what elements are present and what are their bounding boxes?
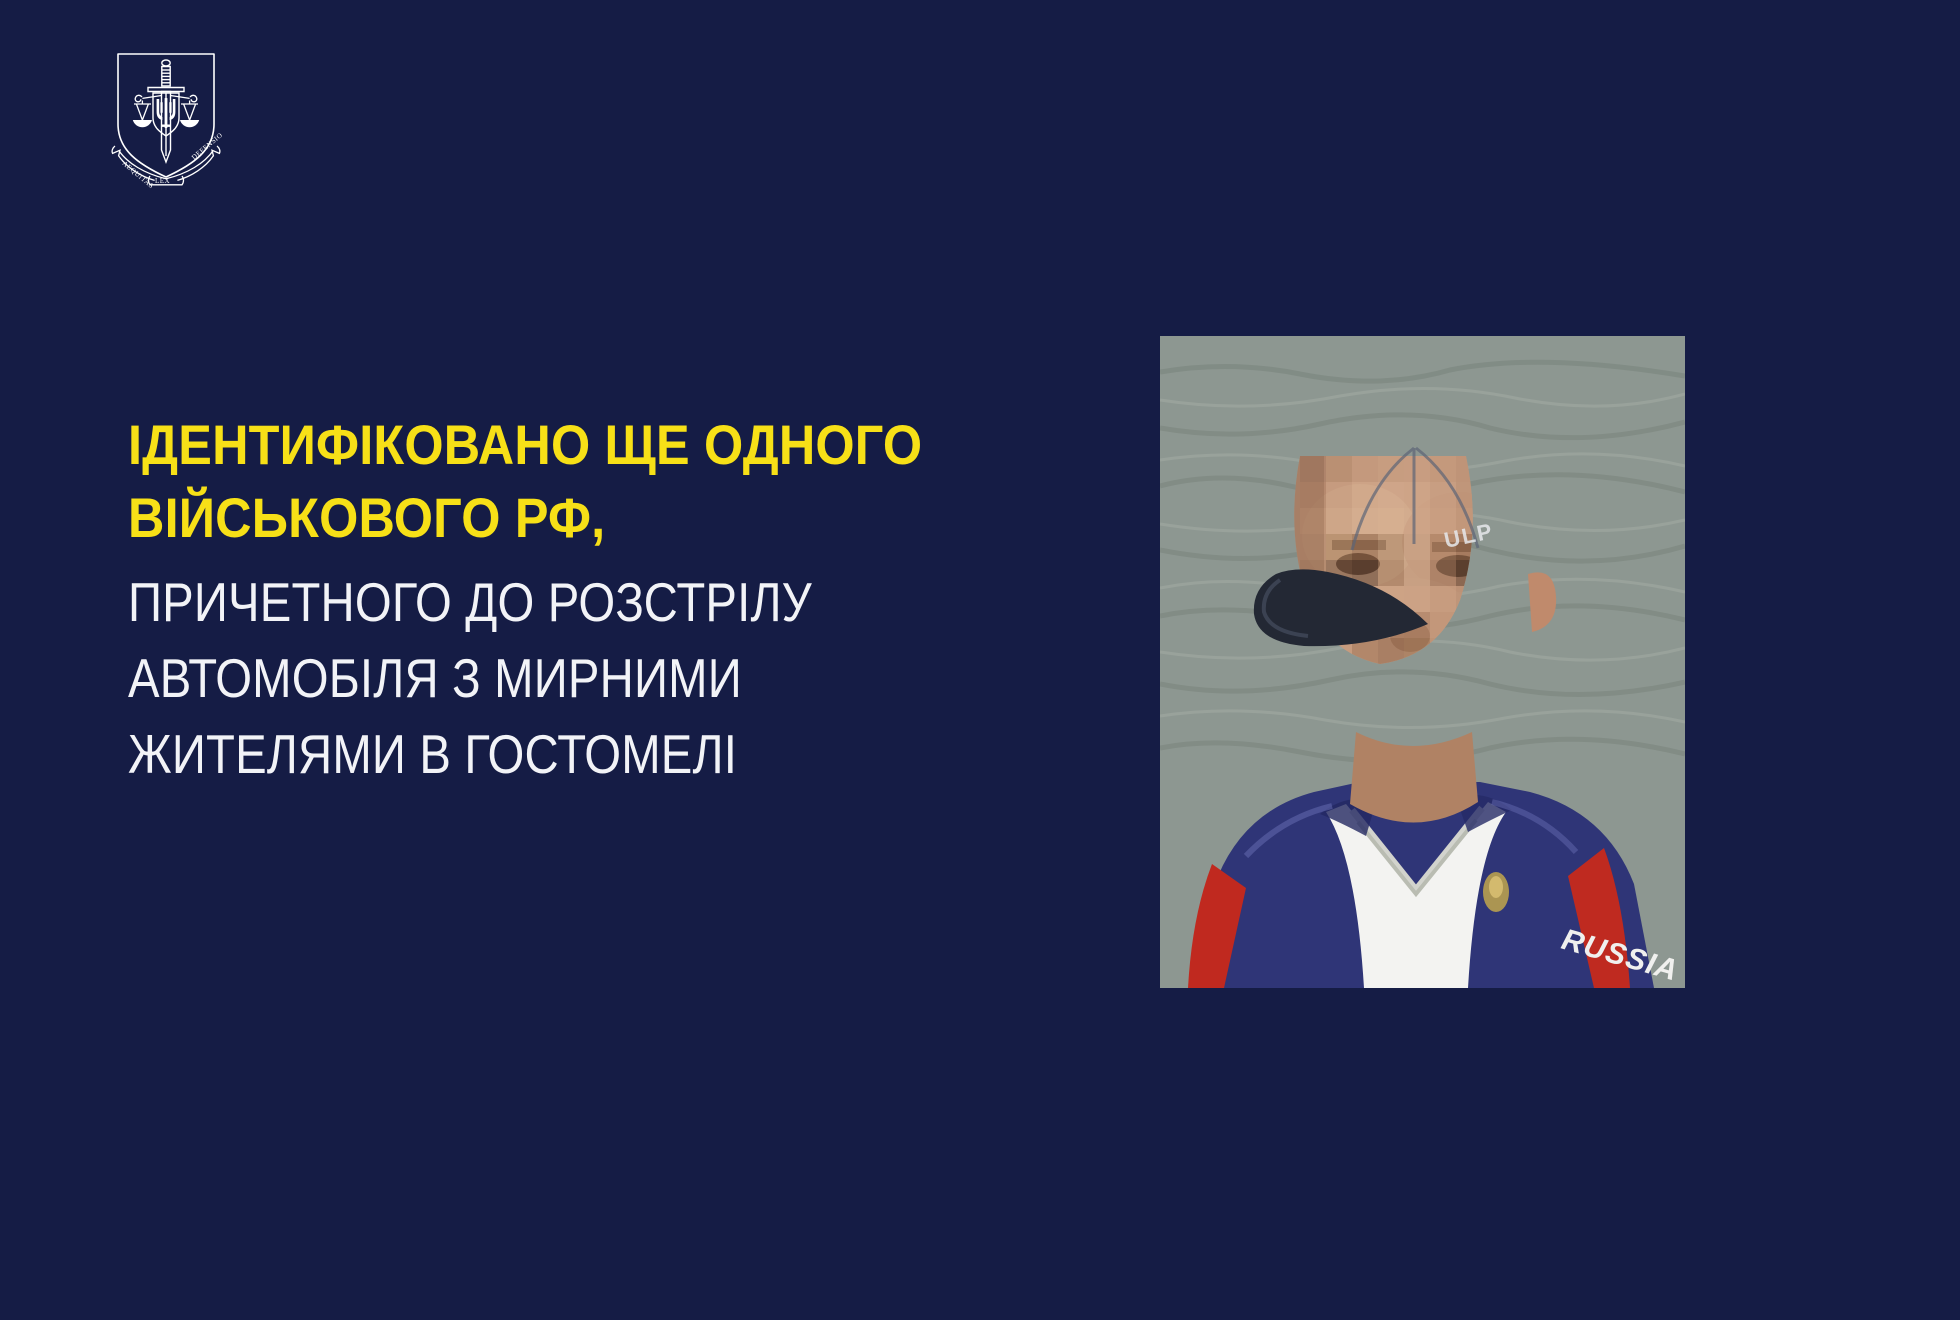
headline-subtext: ПРИЧЕТНОГО ДО РОЗСТРІЛУ АВТОМОБІЛЯ З МИР…	[128, 564, 1028, 792]
headline-accent-line-1: ІДЕНТИФІКОВАНО ЩЕ ОДНОГО	[128, 408, 938, 481]
headline-block: ІДЕНТИФІКОВАНО ЩЕ ОДНОГО ВІЙСЬКОВОГО РФ,…	[128, 408, 1028, 792]
headline-plain-line-2: АВТОМОБІЛЯ З МИРНИМИ	[128, 640, 902, 716]
suspect-photo: 0%#9aa39b 30%#87918b 60%#78837c 100%#929…	[1160, 336, 1685, 988]
headline-plain-line-3: ЖИТЕЛЯМИ В ГОСТОМЕЛІ	[128, 716, 902, 792]
headline-plain-line-1: ПРИЧЕТНОГО ДО РОЗСТРІЛУ	[128, 564, 902, 640]
emblem-motto-left: AEQUITAS	[121, 159, 156, 190]
announcement-card: AEQUITAS LEX DEFENSIO ІДЕНТИФІКОВАНО ЩЕ …	[0, 0, 1960, 1320]
emblem-motto-center: LEX	[155, 177, 170, 185]
headline-accent-line-2: ВІЙСЬКОВОГО РФ,	[128, 481, 938, 554]
prosecutor-general-emblem-icon: AEQUITAS LEX DEFENSIO	[98, 38, 234, 190]
